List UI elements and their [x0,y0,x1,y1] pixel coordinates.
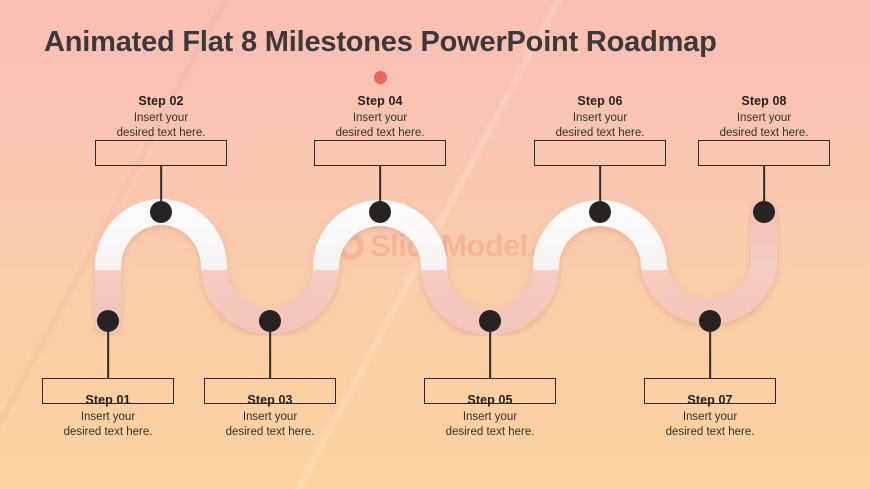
connector-line-step-08 [763,165,765,201]
step-body-line2-step-01: desired text here. [28,425,188,440]
step-title-step-02: Step 02 [81,93,241,109]
step-title-step-04: Step 04 [300,93,460,109]
step-body-line2-step-06: desired text here. [520,126,680,141]
connector-line-step-07 [709,332,711,378]
step-body-line1-step-07: Insert your [630,410,790,425]
milestone-dot-step-05[interactable] [479,310,501,332]
step-bracket-step-06 [534,140,666,166]
step-body-line1-step-03: Insert your [190,410,350,425]
milestone-dot-step-07[interactable] [699,310,721,332]
milestone-dot-step-01[interactable] [97,310,119,332]
step-body-step-06: Insert yourdesired text here. [520,111,680,140]
step-callout-step-04[interactable]: Step 04Insert yourdesired text here. [300,93,460,140]
connector-line-step-02 [160,165,162,201]
step-body-line2-step-02: desired text here. [81,126,241,141]
step-body-line2-step-05: desired text here. [410,425,570,440]
step-body-step-03: Insert yourdesired text here. [190,410,350,439]
step-title-step-06: Step 06 [520,93,680,109]
milestone-dot-step-06[interactable] [589,201,611,223]
step-body-step-07: Insert yourdesired text here. [630,410,790,439]
milestone-dot-step-03[interactable] [259,310,281,332]
step-bracket-step-05 [424,378,556,404]
step-callout-step-06[interactable]: Step 06Insert yourdesired text here. [520,93,680,140]
step-bracket-step-02 [95,140,227,166]
step-body-line1-step-01: Insert your [28,410,188,425]
slide-canvas: Animated Flat 8 Milestones PowerPoint Ro… [0,0,870,489]
step-bracket-step-01 [42,378,174,404]
milestone-dot-step-08[interactable] [753,201,775,223]
step-title-step-08: Step 08 [684,93,844,109]
step-body-step-01: Insert yourdesired text here. [28,410,188,439]
connector-line-step-04 [379,165,381,201]
step-body-line1-step-02: Insert your [81,111,241,126]
step-body-step-05: Insert yourdesired text here. [410,410,570,439]
connector-line-step-01 [107,332,109,378]
step-body-line2-step-07: desired text here. [630,425,790,440]
ribbon-body [108,212,764,322]
step-body-step-02: Insert yourdesired text here. [81,111,241,140]
step-body-line1-step-04: Insert your [300,111,460,126]
connector-line-step-06 [599,165,601,201]
step-bracket-step-08 [698,140,830,166]
connector-line-step-03 [269,332,271,378]
step-body-line2-step-03: desired text here. [190,425,350,440]
step-body-line2-step-04: desired text here. [300,126,460,141]
milestone-dot-step-04[interactable] [369,201,391,223]
step-body-line1-step-06: Insert your [520,111,680,126]
step-body-step-04: Insert yourdesired text here. [300,111,460,140]
step-body-step-08: Insert yourdesired text here. [684,111,844,140]
connector-line-step-05 [489,332,491,378]
step-body-line1-step-08: Insert your [684,111,844,126]
milestone-dot-step-02[interactable] [150,201,172,223]
step-body-line2-step-08: desired text here. [684,126,844,141]
step-bracket-step-07 [644,378,776,404]
step-bracket-step-03 [204,378,336,404]
step-bracket-step-04 [314,140,446,166]
step-callout-step-02[interactable]: Step 02Insert yourdesired text here. [81,93,241,140]
step-callout-step-08[interactable]: Step 08Insert yourdesired text here. [684,93,844,140]
step-body-line1-step-05: Insert your [410,410,570,425]
